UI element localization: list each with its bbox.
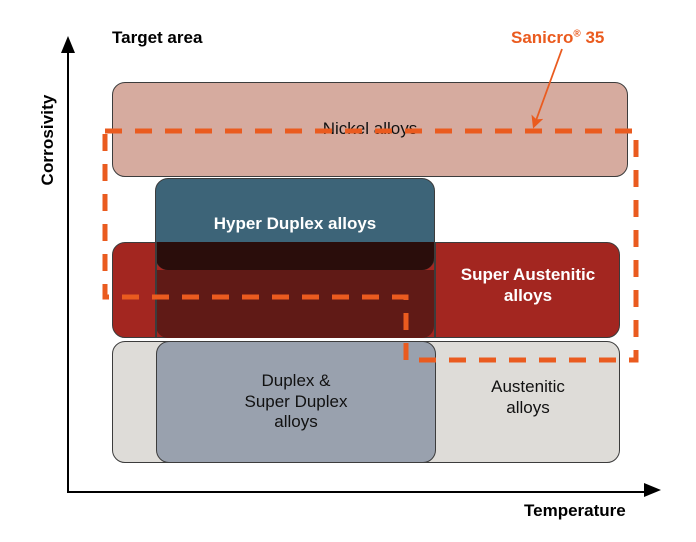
x-axis-label: Temperature	[524, 501, 626, 521]
arrow-right-icon	[644, 483, 661, 497]
arrow-up-icon	[61, 36, 75, 53]
sanicro-callout-name: Sanicro	[511, 28, 573, 47]
alloy-box-hyper-duplex-label: Hyper Duplex alloys	[214, 214, 377, 235]
y-axis-label: Corrosivity	[38, 70, 58, 210]
alloy-box-nickel-label: Nickel alloys	[323, 119, 417, 140]
alloy-box-super-austenitic-label: Super Austenitic alloys	[443, 265, 613, 306]
sanicro-callout-label: Sanicro® 35	[511, 28, 604, 48]
alloy-box-nickel[interactable]: Nickel alloys	[112, 82, 628, 177]
x-axis-line	[67, 491, 650, 493]
alloy-positioning-diagram: Corrosivity Temperature Nickel alloys Au…	[0, 0, 696, 542]
alloy-box-duplex-label: Duplex & Super Duplex alloys	[244, 371, 347, 433]
registered-trademark-icon: ®	[573, 28, 580, 39]
alloy-box-hyper-duplex[interactable]: Hyper Duplex alloys	[155, 178, 435, 270]
y-axis-line	[67, 52, 69, 493]
target-area-title: Target area	[112, 28, 202, 48]
sanicro-callout-grade: 35	[581, 28, 605, 47]
alloy-box-austenitic-label: Austenitic alloys	[443, 377, 613, 418]
alloy-box-duplex[interactable]: Duplex & Super Duplex alloys	[156, 341, 436, 463]
